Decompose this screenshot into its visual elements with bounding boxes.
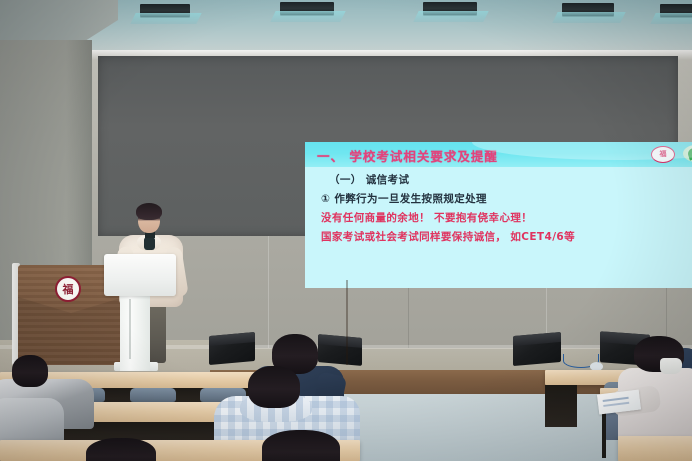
ceiling-light-3-icon	[423, 2, 477, 15]
university-emblem: 福	[55, 276, 81, 302]
student-hair	[262, 430, 340, 461]
presenter-glasses-icon	[140, 218, 157, 223]
slide-line-3: 没有任何商量的余地！ 不要抱有侥幸心理！	[321, 210, 532, 225]
desk-right-front	[618, 436, 692, 461]
green-emblem-logo	[683, 145, 692, 162]
slide-line-2: ① 作弊行为一旦发生按照规定处理	[321, 191, 487, 206]
chair-back-2	[130, 388, 176, 402]
presentation-slide: 一、 学校考试相关要求及提醒 福 （一） 诚信考试 ① 作弊行为一旦发生按照规定…	[305, 142, 692, 288]
slide-body: （一） 诚信考试 ① 作弊行为一旦发生按照规定处理 没有任何商量的余地！ 不要抱…	[305, 167, 692, 288]
student-head-front-center	[262, 430, 340, 461]
ceiling-light-1-icon	[140, 4, 190, 17]
slide-line-4: 国家考试或社会考试同样要保持诚信， 如CET4/6等	[321, 229, 575, 244]
student-head-front-left	[86, 438, 156, 461]
slide-line-1: （一） 诚信考试	[329, 172, 409, 187]
student-partial-left-mid	[0, 398, 60, 444]
ceiling-light-5-icon	[660, 4, 692, 17]
lectern-center-seam	[346, 280, 348, 365]
face-mask-icon	[660, 358, 682, 374]
presenter-inner-top	[144, 237, 155, 250]
slide-header-band: 一、 学校考试相关要求及提醒 福	[305, 142, 692, 167]
ceiling-light-4-icon	[562, 3, 614, 16]
slide-title: 一、 学校考试相关要求及提醒	[317, 146, 498, 165]
university-seal-logo: 福	[651, 146, 675, 163]
desk-right-back-shadow	[545, 385, 577, 427]
lecture-hall-photo: 一、 学校考试相关要求及提醒 福 （一） 诚信考试 ① 作弊行为一旦发生按照规定…	[0, 0, 692, 461]
ceiling-light-2-icon	[280, 2, 334, 15]
student-hair	[248, 366, 300, 408]
stage-monitor-speaker-3	[513, 332, 561, 366]
student-hair	[86, 438, 156, 461]
podium-stem	[120, 293, 150, 371]
white-podium	[104, 254, 176, 296]
stage-monitor-speaker-1	[209, 332, 255, 365]
student-hair	[12, 355, 48, 387]
